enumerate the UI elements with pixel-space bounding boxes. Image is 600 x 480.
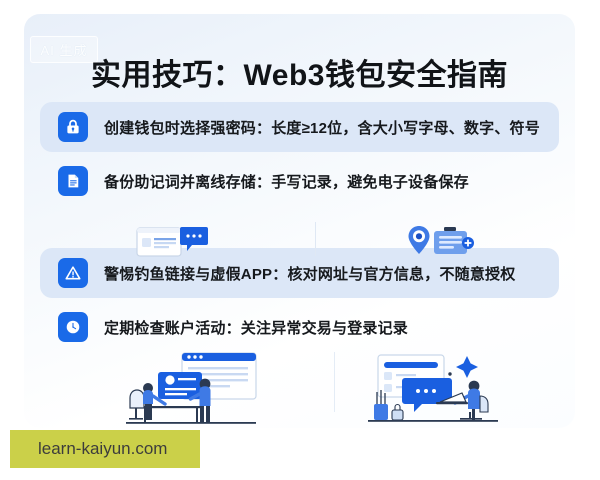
- bottom-divider: [334, 352, 335, 412]
- two-people-at-desk-illustration: [120, 350, 290, 428]
- mid-illustration-area: [24, 206, 575, 248]
- warning-icon: [58, 258, 88, 288]
- site-watermark: learn-kaiyun.com: [10, 430, 200, 468]
- document-icon: [58, 166, 88, 196]
- tip-text-2: 备份助记词并离线存储：手写记录，避免电子设备保存: [104, 171, 469, 192]
- tips-list: 创建钱包时选择强密码：长度≥12位，含大小写字母、数字、符号 备份助记词并离线存…: [24, 102, 575, 352]
- page-title: 实用技巧：Web3钱包安全指南: [24, 50, 575, 94]
- clock-icon: [58, 312, 88, 342]
- tip-text-1: 创建钱包时选择强密码：长度≥12位，含大小写字母、数字、符号: [104, 117, 540, 138]
- location-pin-with-id-card-illustration: [406, 222, 486, 267]
- watermark-text: learn-kaiyun.com: [38, 439, 167, 459]
- mid-divider: [315, 222, 316, 256]
- lock-icon: [58, 112, 88, 142]
- tip-row-2[interactable]: 备份助记词并离线存储：手写记录，避免电子设备保存: [40, 156, 559, 206]
- tip-row-1[interactable]: 创建钱包时选择强密码：长度≥12位，含大小写字母、数字、符号: [40, 102, 559, 152]
- tip-text-4: 定期检查账户活动：关注异常交易与登录记录: [104, 317, 408, 338]
- info-card: AI 生成 实用技巧：Web3钱包安全指南 创建钱包时选择强密码：长度≥12位，…: [24, 14, 575, 428]
- person-at-laptop-illustration: [364, 350, 534, 428]
- bottom-illustration-area: [24, 350, 575, 428]
- tip-row-4[interactable]: 定期检查账户活动：关注异常交易与登录记录: [40, 302, 559, 352]
- browser-card-with-chat-bubble-illustration: [136, 224, 210, 267]
